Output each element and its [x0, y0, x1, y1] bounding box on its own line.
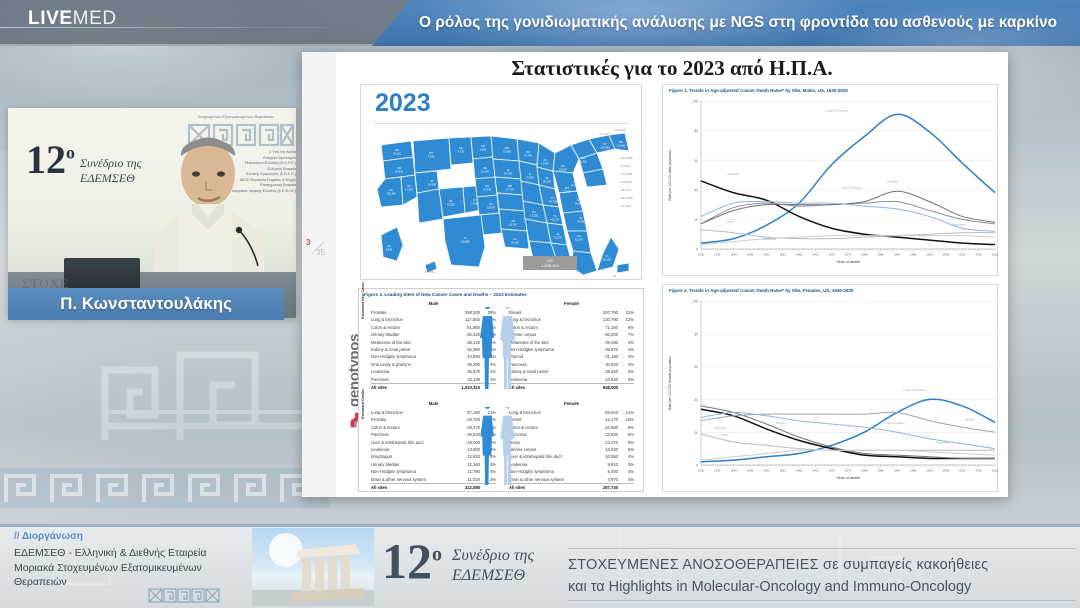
figure3-cases-female-col: Breast297,79031%Lung & bronchus120,79013…	[509, 309, 634, 390]
row-percent: 3%	[618, 368, 634, 375]
svg-text:2010: 2010	[959, 253, 966, 257]
male-body-icon	[479, 307, 496, 391]
row-percent: 3%	[618, 476, 634, 483]
svg-text:12,930: 12,930	[563, 190, 571, 194]
map-divider	[373, 123, 629, 124]
row-site: Non-Hodgkin lymphoma	[371, 353, 454, 360]
footer-bar: // Διοργάνωση ΕΔΕΜΣΕΘ - Ελληνική & Διεθν…	[0, 524, 1080, 608]
row-percent: 4%	[618, 453, 634, 460]
row-count: 9,810	[592, 461, 618, 468]
svg-text:0: 0	[696, 248, 698, 252]
svg-text:7,530: 7,530	[428, 155, 435, 159]
table-row: Colon & rectum71,1608%	[509, 324, 634, 331]
male-body-icon	[479, 407, 496, 487]
svg-text:AL: AL	[556, 232, 560, 236]
row-percent: 3%	[618, 376, 634, 383]
svg-text:1950: 1950	[763, 253, 770, 257]
table-row: Non-Hodgkin lymphoma35,6704%	[509, 346, 634, 353]
svg-text:NC: NC	[577, 198, 581, 202]
svg-text:3,500: 3,500	[386, 248, 393, 252]
svg-text:WA: WA	[395, 148, 399, 152]
svg-text:ME: ME	[619, 140, 623, 144]
row-count: 39,490	[592, 339, 618, 346]
svg-text:CA: CA	[389, 188, 393, 192]
svg-text:122,050: 122,050	[600, 146, 610, 150]
backdrop-congress-number: 12ο	[26, 136, 75, 183]
row-count: 28,470	[454, 424, 480, 431]
svg-text:Rate per 100,000 female popula: Rate per 100,000 female population	[668, 356, 672, 410]
table-row: Esophagus12,9204%	[371, 453, 496, 460]
svg-text:22,630: 22,630	[487, 206, 495, 210]
svg-text:UT: UT	[473, 198, 477, 202]
row-site: Brain & other nervous system	[371, 476, 454, 483]
row-site: All sites	[509, 484, 592, 490]
footer-org-line-1: ΕΔΕΜΣΕΘ - Ελληνική & Διεθνής Εταιρεία	[14, 546, 254, 561]
table-row: Melanoma of the skin39,4904%	[509, 339, 634, 346]
row-count: 23,940	[592, 376, 618, 383]
figure3-cases-male-col: Prostate288,30029%Lung & bronchus117,550…	[371, 309, 496, 390]
row-site: Breast	[509, 309, 592, 316]
svg-text:1985: 1985	[877, 253, 884, 257]
us-map-card: 2023	[360, 84, 642, 280]
svg-text:100: 100	[693, 300, 699, 304]
svg-text:1980: 1980	[861, 469, 868, 473]
svg-text:37,340: 37,340	[524, 154, 532, 158]
svg-text:RI 6,500: RI 6,500	[621, 165, 631, 168]
table-row: Uterine corpus13,0305%	[509, 446, 634, 453]
svg-text:NV: NV	[407, 184, 411, 188]
svg-text:PA: PA	[581, 156, 585, 160]
table-row: Melanoma of the skin58,1206%	[371, 339, 496, 346]
svg-text:NY: NY	[603, 142, 607, 146]
row-site: Lung & bronchus	[371, 409, 454, 416]
row-site: Non-Hodgkin lymphoma	[509, 468, 592, 475]
row-percent: 13%	[618, 316, 634, 323]
svg-text:16,290: 16,290	[483, 188, 491, 192]
speaker-name-bar: Π. Κωνσταντουλάκης	[8, 288, 284, 320]
row-count: 1,010,310	[454, 384, 480, 390]
svg-text:OH: OH	[561, 164, 565, 168]
svg-text:1950: 1950	[763, 469, 770, 473]
livemed-logo[interactable]: LIVEMED	[28, 8, 117, 30]
svg-text:31,270: 31,270	[554, 236, 562, 240]
table-row: Kidney & renal pelvis29,4403%	[509, 368, 634, 375]
svg-text:WI: WI	[526, 150, 529, 154]
row-site: Colon & rectum	[509, 324, 592, 331]
row-count: 11,780	[454, 468, 480, 475]
svg-text:MD 35,350: MD 35,350	[621, 197, 633, 200]
figure2-card: Figure 2. Trends in Age-adjusted Cancer …	[662, 284, 998, 492]
svg-text:Pancreas: Pancreas	[953, 222, 966, 226]
table-row: All sites287,740	[509, 483, 634, 490]
table-row: Non-Hodgkin lymphoma11,7804%	[371, 468, 496, 475]
svg-text:10,080: 10,080	[617, 144, 625, 148]
svg-text:Colon & rectum: Colon & rectum	[841, 185, 862, 189]
row-count: 117,550	[454, 316, 480, 323]
figure3-cases-block: Estimated New Cases Male Female Prostate…	[359, 301, 645, 397]
row-site: Leukemia	[371, 368, 454, 375]
session-title: Ο ρόλος της γονιδιωματικής ανάλυσης με N…	[395, 14, 1057, 32]
svg-text:ID: ID	[431, 179, 434, 183]
livemed-logo-light: MED	[73, 8, 117, 29]
table-row: Non-Hodgkin lymphoma44,8804%	[371, 353, 496, 360]
svg-text:IN: IN	[546, 176, 549, 180]
svg-text:1945: 1945	[747, 469, 754, 473]
svg-text:1965: 1965	[812, 253, 819, 257]
row-count: 33,130	[454, 376, 480, 383]
slide-page-total: 35	[316, 248, 325, 257]
svg-text:AZ: AZ	[449, 199, 453, 203]
svg-text:5,460: 5,460	[480, 148, 487, 152]
row-percent: 21%	[618, 409, 634, 416]
table-row: Liver & intrahepatic bile duct10,3804%	[509, 453, 634, 460]
row-count: 24,080	[592, 424, 618, 431]
svg-text:1940: 1940	[730, 253, 737, 257]
svg-text:40: 40	[694, 188, 698, 192]
row-count: 13,270	[592, 439, 618, 446]
svg-text:Year of death: Year of death	[836, 259, 860, 264]
svg-text:30,700: 30,700	[549, 200, 557, 204]
svg-text:13,660: 13,660	[471, 202, 479, 206]
svg-text:2015: 2015	[975, 469, 982, 473]
svg-text:1955: 1955	[779, 253, 786, 257]
row-site: Lung & bronchus	[371, 316, 454, 323]
svg-text:1935: 1935	[714, 253, 721, 257]
svg-text:MT: MT	[429, 151, 433, 155]
row-site: Leukemia	[509, 461, 592, 468]
row-count: 10,380	[592, 453, 618, 460]
footer-caryatids-photo	[252, 528, 374, 606]
svg-text:2000: 2000	[926, 469, 933, 473]
svg-text:2010: 2010	[959, 469, 966, 473]
caryatids-illustration	[252, 528, 374, 606]
row-count: 58,120	[454, 339, 480, 346]
row-percent: 4%	[618, 346, 634, 353]
row-site: Esophagus	[371, 453, 454, 460]
background-meander-strip	[0, 468, 330, 508]
svg-text:1960: 1960	[796, 253, 803, 257]
svg-text:4,370: 4,370	[458, 150, 465, 154]
svg-text:20: 20	[694, 218, 698, 222]
table-row: Lung & bronchus117,55012%	[371, 316, 496, 323]
table-row: All sites322,080	[371, 483, 496, 490]
row-site: Lung & bronchus	[509, 409, 592, 416]
row-count: 12,920	[454, 453, 480, 460]
footer-meander-icon	[148, 588, 220, 603]
svg-text:CT 23,380: CT 23,380	[621, 173, 633, 176]
figure2-chart: 0204060801001930193519401945195019551960…	[663, 295, 999, 491]
footer-theme-line-1: ΣΤΟΧΕΥΜΕΝΕΣ ΑΝΟΣΟΘΕΡΑΠΕΙΕΣ σε συμπαγείς …	[568, 554, 1078, 576]
backdrop-top-text: Στοχευμένων Εξατομικευμένων Θεραπειών	[176, 114, 296, 119]
svg-text:SC: SC	[579, 216, 583, 220]
female-body-icon	[499, 307, 516, 391]
row-count: 287,740	[592, 484, 618, 490]
slide-left-rail	[302, 52, 336, 497]
table-row: All sites1,010,310	[371, 383, 496, 390]
table-row: Lung & bronchus120,79013%	[509, 316, 634, 323]
svg-text:Prostate: Prostate	[887, 179, 899, 183]
figure3-cases-male-head: Male	[371, 301, 496, 306]
svg-text:1990: 1990	[894, 253, 901, 257]
session-title-band: Ο ρόλος της γονιδιωματικής ανάλυσης με N…	[372, 0, 1080, 46]
table-row: Colon & rectum28,4709%	[371, 424, 496, 431]
svg-text:GA: GA	[577, 234, 581, 238]
svg-text:46,620: 46,620	[393, 152, 401, 156]
svg-text:AK: AK	[387, 244, 391, 248]
svg-text:Pancreas: Pancreas	[936, 441, 949, 445]
svg-text:33,490: 33,490	[577, 220, 585, 224]
svg-text:WV: WV	[565, 186, 569, 190]
svg-text:40: 40	[694, 398, 698, 402]
table-row: Urinary bladder62,4206%	[371, 331, 496, 338]
row-count: 67,160	[454, 409, 480, 416]
speaker-video-panel[interactable]: Στοχευμένων Εξατομικευμένων Θεραπειών //…	[8, 108, 296, 318]
svg-text:37,770: 37,770	[506, 188, 514, 192]
row-count: 31,180	[592, 353, 618, 360]
us-map-figure: WA46,620 OR26,830 CA192,190 NV17,250 ID1…	[367, 127, 637, 277]
row-site: Urinary bladder	[371, 461, 454, 468]
row-count: 11,020	[454, 476, 480, 483]
slide-title: Στατιστικές για το 2023 από Η.Π.Α.	[336, 56, 1008, 81]
footer-congress-subtitle: Συνέδριο της ΕΔΕΜΣΕΘ	[452, 546, 572, 585]
svg-text:66,460: 66,460	[575, 202, 583, 206]
svg-text:OK: OK	[489, 202, 493, 206]
svg-text:61,930: 61,930	[541, 162, 549, 166]
svg-text:KY: KY	[551, 196, 555, 200]
table-row: Lung & bronchus67,16021%	[371, 409, 496, 416]
svg-text:2000: 2000	[926, 253, 933, 257]
svg-text:VT 4,170: VT 4,170	[599, 133, 609, 136]
figure3-cases-female-head: Female	[509, 301, 634, 306]
svg-text:28,180: 28,180	[511, 241, 519, 245]
svg-text:1970: 1970	[828, 469, 835, 473]
row-site: Melanoma of the skin	[509, 339, 592, 346]
speaker-name: Π. Κωνσταντουλάκης	[60, 294, 232, 314]
svg-text:1960: 1960	[796, 469, 803, 473]
female-body-icon	[499, 407, 516, 487]
row-site: Colon & rectum	[509, 424, 592, 431]
row-percent: 5%	[618, 439, 634, 446]
svg-text:192,190: 192,190	[386, 192, 396, 196]
row-count: 59,910	[592, 409, 618, 416]
row-count: 34,700	[454, 416, 480, 423]
svg-text:DE 7,140: DE 7,140	[621, 189, 632, 192]
svg-text:2015: 2015	[975, 253, 982, 257]
svg-text:KS: KS	[485, 184, 489, 188]
table-row: Liver & intrahepatic bile duct19,0006%	[371, 439, 496, 446]
svg-text:1945: 1945	[747, 253, 754, 257]
table-row: Leukemia23,9403%	[509, 376, 634, 383]
row-site: All sites	[371, 484, 454, 490]
svg-text:1975: 1975	[845, 253, 852, 257]
svg-text:1935: 1935	[714, 469, 721, 473]
row-site: Leukemia	[509, 376, 592, 383]
svg-text:20: 20	[694, 431, 698, 435]
svg-text:1985: 1985	[877, 469, 884, 473]
svg-text:Breast: Breast	[966, 418, 975, 422]
row-count: 120,790	[592, 316, 618, 323]
svg-text:MS: MS	[532, 210, 536, 214]
row-percent: 3%	[618, 468, 634, 475]
figure3-deaths-block: Estimated Deaths Male Female Lung & bron…	[359, 401, 645, 493]
footer-theme-rule-bottom	[568, 600, 1076, 601]
table-row: Colon & rectum81,8608%	[371, 324, 496, 331]
svg-text:Year of death: Year of death	[836, 475, 860, 480]
svg-text:NE: NE	[483, 166, 487, 170]
figure3-title: Figure 3. Leading Sites of New Cancer Ca…	[364, 292, 527, 297]
figure3-deaths-male-col: Lung & bronchus67,16021%Prostate34,70011…	[371, 409, 496, 490]
svg-text:ND: ND	[459, 146, 463, 150]
svg-text:AR: AR	[511, 219, 515, 223]
table-row: Lung & bronchus59,91021%	[509, 409, 634, 416]
svg-text:32,980: 32,980	[503, 150, 511, 154]
row-count: 13,030	[592, 446, 618, 453]
table-row: Brain & other nervous system7,9703%	[509, 476, 634, 483]
svg-text:TN: TN	[553, 214, 557, 218]
row-site: Melanoma of the skin	[371, 339, 454, 346]
row-percent: 7%	[618, 331, 634, 338]
row-percent: 31%	[618, 309, 634, 316]
row-count: 12,160	[454, 461, 480, 468]
svg-text:Liver: Liver	[727, 219, 734, 223]
svg-text:1975: 1975	[845, 469, 852, 473]
svg-text:1970: 1970	[828, 253, 835, 257]
row-count: 43,170	[592, 416, 618, 423]
footer-org-label: // Διοργάνωση	[14, 531, 83, 542]
footer-congress-line-1: Συνέδριο της	[452, 546, 572, 566]
row-count: 44,880	[454, 353, 480, 360]
svg-text:IA: IA	[507, 168, 510, 172]
row-site: Pancreas	[509, 361, 592, 368]
svg-text:1980: 1980	[861, 253, 868, 257]
row-count: 7,970	[592, 476, 618, 483]
svg-text:47,450: 47,450	[571, 184, 579, 188]
svg-text:60: 60	[694, 159, 698, 163]
row-site: Colon & rectum	[371, 324, 454, 331]
table-row: Leukemia13,9004%	[371, 446, 496, 453]
svg-text:41,520: 41,520	[447, 203, 455, 207]
svg-text:VA: VA	[573, 180, 577, 184]
svg-text:2005: 2005	[943, 469, 950, 473]
figure3-deaths-male-head: Male	[371, 401, 496, 406]
svg-text:MA 42,380: MA 42,380	[621, 157, 633, 160]
table-row: Uterine corpus66,2007%	[509, 331, 634, 338]
row-percent: 15%	[618, 416, 634, 423]
svg-text:60: 60	[694, 365, 698, 369]
table-row: Breast297,79031%	[509, 309, 634, 316]
svg-text:NH 9,180: NH 9,180	[615, 129, 626, 132]
row-site: Urinary bladder	[371, 331, 454, 338]
table-row: Oral cavity & pharynx39,2904%	[371, 361, 496, 368]
table-row: Brain & other nervous system11,0203%	[371, 476, 496, 483]
row-site: Prostate	[371, 416, 454, 423]
svg-text:17,250: 17,250	[530, 214, 538, 218]
svg-text:DC 3,520: DC 3,520	[621, 205, 632, 208]
svg-text:Colon & rectum: Colon & rectum	[884, 421, 905, 425]
row-site: Liver & intrahepatic bile duct	[509, 453, 592, 460]
table-row: Leukemia35,6704%	[371, 368, 496, 375]
row-site: Liver & intrahepatic bile duct	[371, 439, 454, 446]
footer-theme-rule-top	[568, 548, 1076, 549]
table-row: Prostate34,70011%	[371, 416, 496, 423]
svg-text:HI 7,460: HI 7,460	[425, 271, 435, 274]
figure3-deaths-sidelabel: Estimated Deaths	[361, 361, 365, 419]
figure3-deaths-female-col: Lung & bronchus59,91021%Breast43,17015%C…	[509, 409, 634, 490]
row-percent: 8%	[618, 431, 634, 438]
svg-text:0: 0	[696, 464, 698, 468]
row-site: Kidney & renal pelvis	[509, 368, 592, 375]
table-row: Pancreas23,9308%	[509, 431, 634, 438]
row-site: Breast	[509, 416, 592, 423]
footer-org-text: ΕΔΕΜΣΕΘ - Ελληνική & Διεθνής Εταιρεία Μο…	[14, 546, 254, 590]
row-count: 66,200	[592, 331, 618, 338]
livemed-logo-bold: LIVE	[28, 8, 73, 29]
figure1-title: Figure 1. Trends in Age-adjusted Cancer …	[669, 88, 848, 93]
table-row: Colon & rectum24,0808%	[509, 424, 634, 431]
svg-text:18,390: 18,390	[509, 223, 517, 227]
svg-text:26,830: 26,830	[395, 170, 403, 174]
row-percent: 8%	[618, 324, 634, 331]
row-site: Lung & bronchus	[509, 316, 592, 323]
svg-text:2005: 2005	[943, 253, 950, 257]
row-site: Colon & rectum	[371, 424, 454, 431]
svg-text:Ovary: Ovary	[721, 432, 730, 436]
row-percent: 4%	[618, 339, 634, 346]
footer-congress-number: 12ο	[382, 532, 442, 590]
svg-text:MN: MN	[505, 146, 509, 150]
row-count: 35,670	[454, 368, 480, 375]
svg-text:Lung & bronchus: Lung & bronchus	[904, 388, 927, 392]
row-count: 29,440	[592, 368, 618, 375]
svg-text:2020: 2020	[992, 253, 999, 257]
figure3-card: Figure 3. Leading Sites of New Cancer Ca…	[358, 288, 644, 492]
figure2-title: Figure 2. Trends in Age-adjusted Cancer …	[669, 288, 853, 293]
row-site: Non-Hodgkin lymphoma	[509, 346, 592, 353]
row-percent: 3%	[618, 461, 634, 468]
svg-text:MO: MO	[508, 184, 512, 188]
table-row: All sites948,000	[509, 383, 634, 390]
slide-panel[interactable]: 3 35 genotypos SCIENCE LABS Στατιστικές …	[302, 52, 1008, 497]
row-count: 81,860	[454, 324, 480, 331]
footer-org-line-2: Μοριακά Στοχευμένων Εξατομικευμένων	[14, 561, 254, 576]
svg-text:1965: 1965	[812, 469, 819, 473]
row-site: Kidney & renal pelvis	[371, 346, 454, 353]
row-count: 948,000	[592, 384, 618, 390]
svg-text:75,930: 75,930	[526, 176, 534, 180]
svg-text:Stomach: Stomach	[714, 426, 726, 430]
map-year-label: 2023	[375, 89, 431, 118]
footer-theme-line-2: και τα Highlights in Molecular-Oncology …	[568, 576, 1078, 598]
table-row: Prostate288,30029%	[371, 309, 496, 316]
svg-text:10,530: 10,530	[481, 170, 489, 174]
row-site: Oral cavity & pharynx	[371, 361, 454, 368]
svg-text:1930: 1930	[698, 469, 705, 473]
row-count: 30,920	[592, 361, 618, 368]
row-count: 23,930	[592, 431, 618, 438]
svg-text:80: 80	[694, 129, 698, 133]
table-row: Leukemia9,8103%	[509, 461, 634, 468]
row-site: Leukemia	[371, 446, 454, 453]
row-site: Pancreas	[371, 376, 454, 383]
svg-text:10,590: 10,590	[428, 183, 436, 187]
row-site: Thyroid	[509, 353, 592, 360]
row-percent	[618, 384, 634, 390]
row-count: 62,420	[454, 331, 480, 338]
row-percent: 3%	[618, 361, 634, 368]
svg-text:43,270: 43,270	[551, 218, 559, 222]
svg-text:Rate per 100,000 male populati: Rate per 100,000 male population	[668, 149, 672, 200]
table-row: Non-Hodgkin lymphoma8,4003%	[509, 468, 634, 475]
